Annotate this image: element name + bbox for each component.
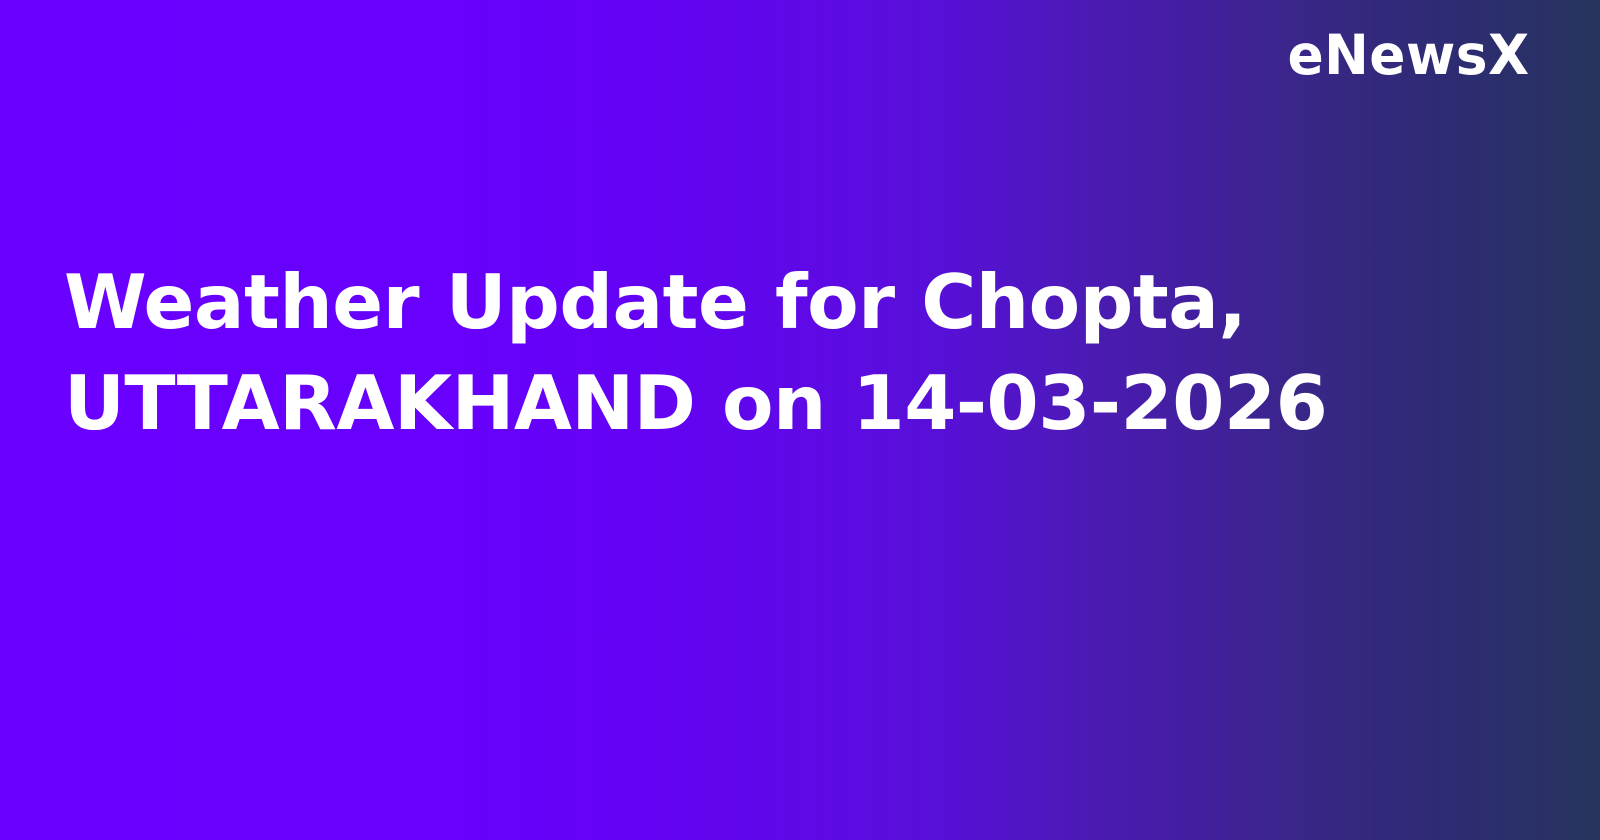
page-title: Weather Update for Chopta, UTTARAKHAND o… <box>64 252 1500 454</box>
weather-update-banner: eNewsX Weather Update for Chopta, UTTARA… <box>0 0 1600 840</box>
brand-logo[interactable]: eNewsX <box>1288 28 1530 83</box>
headline-container: Weather Update for Chopta, UTTARAKHAND o… <box>64 252 1500 454</box>
